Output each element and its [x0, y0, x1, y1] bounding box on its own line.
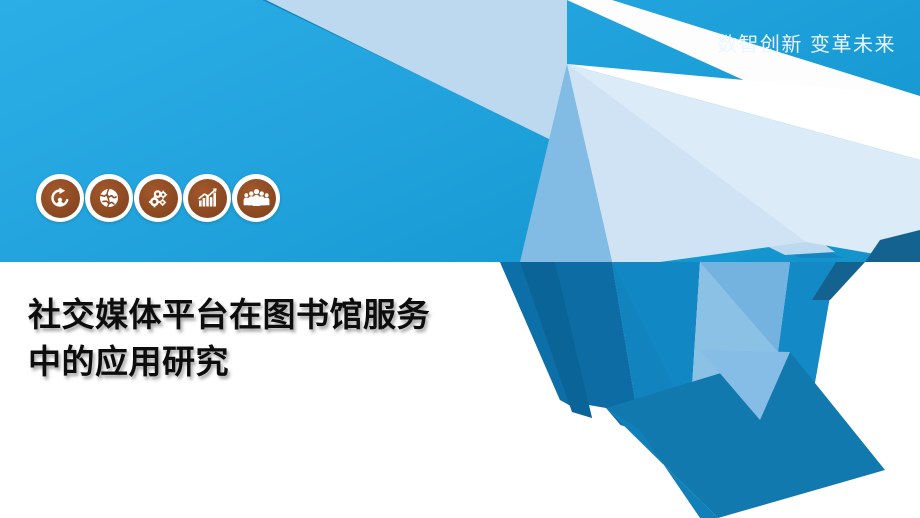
bar-chart-icon — [188, 179, 227, 218]
tagline: 数智创新 变革未来 — [717, 28, 896, 57]
icon-badge-gears[interactable] — [134, 174, 182, 222]
polygon-artwork — [0, 0, 920, 518]
team-people-icon — [237, 179, 276, 218]
globe-icon — [90, 179, 129, 218]
title-slide: 数智创新 变革未来 — [0, 0, 920, 518]
page-title-text: 社交媒体平台在图书馆服务 中的应用研究 — [28, 296, 430, 380]
icon-strip — [36, 174, 281, 222]
icon-badge-refresh[interactable] — [36, 174, 84, 222]
page-title: 社交媒体平台在图书馆服务 中的应用研究 — [28, 292, 548, 386]
refresh-arrow-icon — [41, 179, 80, 218]
poly-white-bottom — [0, 420, 500, 518]
icon-badge-globe[interactable] — [85, 174, 133, 222]
icon-badge-bar-chart[interactable] — [183, 174, 231, 222]
gears-icon — [139, 179, 178, 218]
icon-badge-team[interactable] — [232, 174, 280, 222]
